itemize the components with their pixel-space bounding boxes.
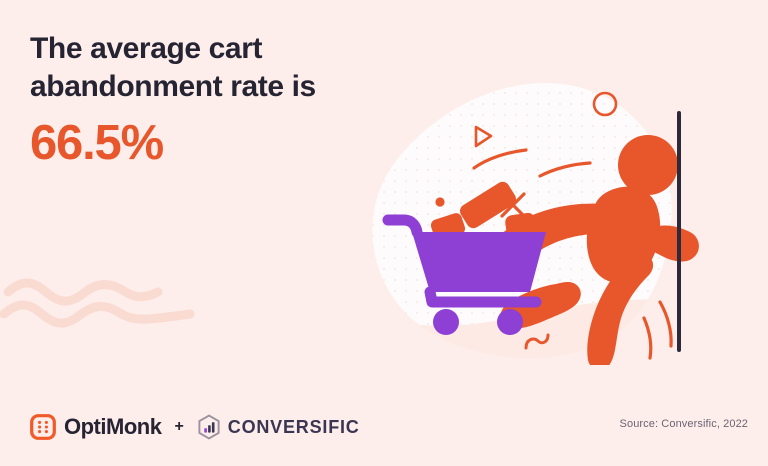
source-attribution: Source: Conversific, 2022 bbox=[620, 418, 748, 430]
cart-basket bbox=[412, 232, 546, 292]
headline-block: The average cart abandonment rate is 66.… bbox=[30, 30, 370, 168]
optimonk-logo: OptiMonk bbox=[30, 414, 161, 440]
dot-accent bbox=[435, 197, 444, 206]
optimonk-mark-icon bbox=[30, 414, 56, 440]
conversific-wordmark: CONVERSIFIC bbox=[228, 418, 360, 436]
cart-abandonment-illustration bbox=[360, 80, 700, 365]
plus-separator: + bbox=[174, 419, 183, 435]
logo-row: OptiMonk + CONVERSIFIC bbox=[30, 404, 360, 450]
conversific-mark-icon bbox=[197, 414, 221, 440]
optimonk-wordmark: OptiMonk bbox=[64, 416, 161, 438]
stat-value: 66.5% bbox=[30, 119, 370, 168]
wavy-lines-decoration bbox=[0, 276, 200, 332]
conversific-logo: CONVERSIFIC bbox=[197, 414, 360, 440]
infographic-canvas: The average cart abandonment rate is 66.… bbox=[0, 0, 768, 466]
cart-wheel-right bbox=[497, 309, 523, 335]
page-title: The average cart abandonment rate is bbox=[30, 30, 370, 107]
footer: OptiMonk + CONVERSIFIC Sourc bbox=[0, 404, 768, 450]
cart-wheel-left bbox=[433, 309, 459, 335]
